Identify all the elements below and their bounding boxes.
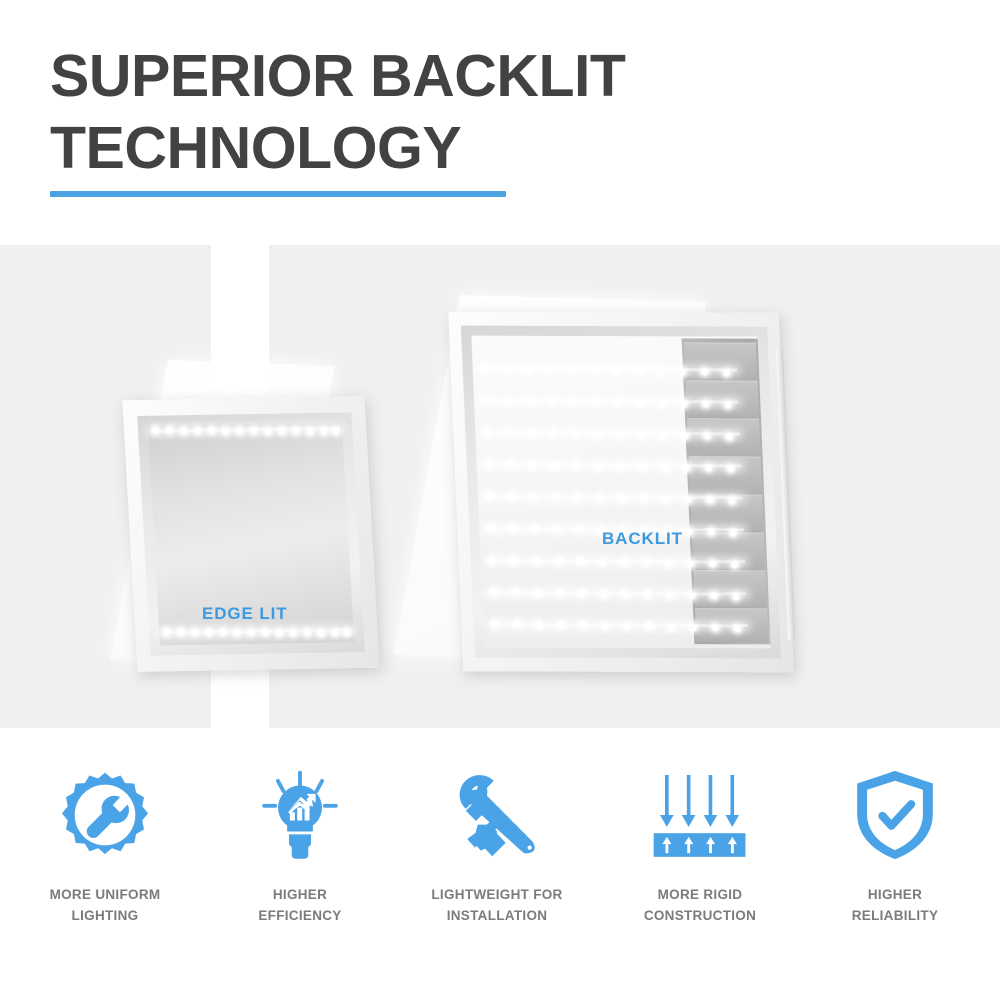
- backlit-label: BACKLIT: [602, 529, 683, 549]
- page-title: SUPERIOR BACKLIT TECHNOLOGY: [50, 40, 810, 184]
- header-section: SUPERIOR BACKLIT TECHNOLOGY: [0, 0, 1000, 245]
- edge-lit-label: EDGE LIT: [202, 604, 288, 624]
- edge-lit-frame-group: [122, 396, 379, 672]
- feature-label: HIGHER RELIABILITY: [797, 884, 993, 926]
- lightbulb-chart-icon: [202, 760, 398, 870]
- feature-more-rigid-construction: MORE RIGID CONSTRUCTION: [602, 760, 798, 926]
- feature-more-uniform-lighting: MORE UNIFORM LIGHTING: [7, 760, 203, 926]
- edge-lit-panel: [130, 370, 430, 700]
- product-comparison-section: EDGE LIT BACKLIT: [0, 245, 1000, 728]
- features-section: MORE UNIFORM LIGHTING: [0, 760, 1000, 1000]
- feature-lightweight-installation: LIGHTWEIGHT FOR INSTALLATION: [399, 760, 595, 926]
- gear-wrench-icon: [7, 760, 203, 870]
- infographic-page: SUPERIOR BACKLIT TECHNOLOGY: [0, 0, 1000, 1000]
- feature-label: HIGHER EFFICIENCY: [202, 884, 398, 926]
- backlit-frame-group: [448, 312, 793, 673]
- feature-higher-efficiency: HIGHER EFFICIENCY: [202, 760, 398, 926]
- shield-check-icon: [797, 760, 993, 870]
- feature-label: LIGHTWEIGHT FOR INSTALLATION: [399, 884, 595, 926]
- feature-label: MORE RIGID CONSTRUCTION: [602, 884, 798, 926]
- arrows-load-bar-icon: [602, 760, 798, 870]
- feature-higher-reliability: HIGHER RELIABILITY: [797, 760, 993, 926]
- backlit-panel: [450, 300, 810, 700]
- hand-wrench-icon: [399, 760, 595, 870]
- feature-label: MORE UNIFORM LIGHTING: [7, 884, 203, 926]
- title-underline-bar: [50, 191, 506, 197]
